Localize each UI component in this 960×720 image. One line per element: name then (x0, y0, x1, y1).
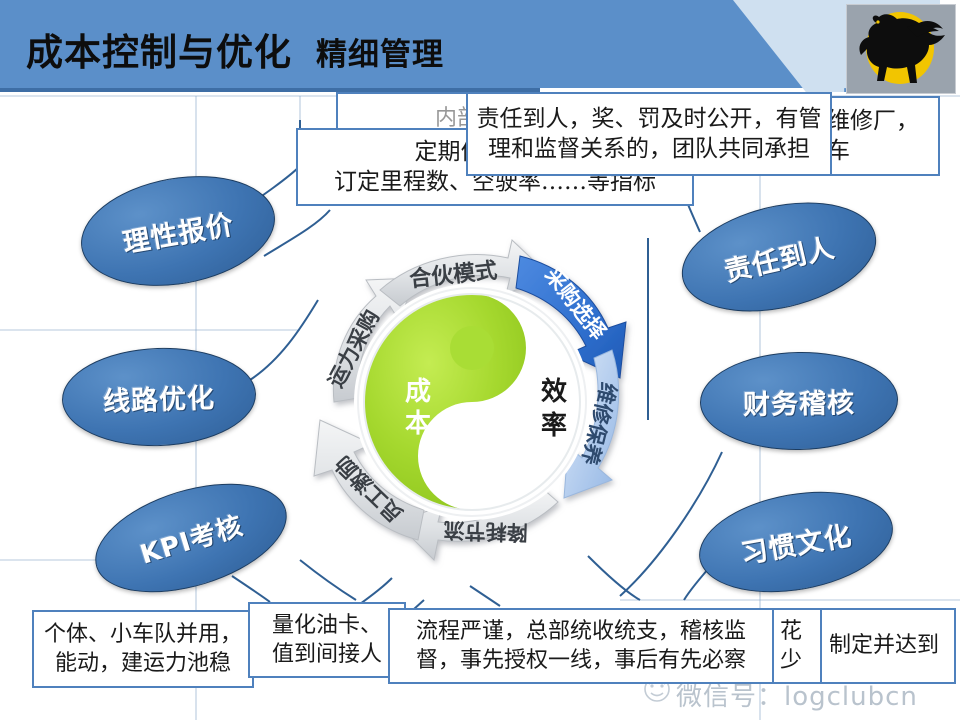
svg-text:本: 本 (405, 409, 431, 439)
slide-root: 成本控制与优化精细管理 (0, 0, 960, 720)
page-title: 成本控制与优化精细管理 (26, 22, 444, 76)
pegasus-icon (847, 5, 953, 91)
page-title-sub: 精细管理 (316, 37, 444, 73)
callout-bottom-fuel-card[interactable]: 量化油卡、 值到间接人 (248, 602, 406, 678)
oval-habit-culture[interactable]: 习惯文化 (691, 478, 901, 607)
yin-label-cost: 成 (405, 377, 431, 407)
callout-bottom-process[interactable]: 流程严谨，总部统收统支，稽核监 督，事先授权一线，事后有先必察 (388, 608, 774, 684)
oval-responsibility[interactable]: 责任到人 (671, 185, 887, 329)
callout-bottom-fleet[interactable]: 个体、小车队并用， 能动，建运力池稳 (32, 610, 254, 688)
oval-habit-culture-label: 习惯文化 (737, 513, 854, 571)
yang-label-efficiency: 效 (541, 376, 567, 407)
oval-rational-quote-label: 理性报价 (119, 202, 236, 260)
oval-route-optimization[interactable]: 线路优化 (60, 345, 257, 450)
oval-financial-audit-label: 财务稽核 (743, 381, 856, 422)
page-title-main: 成本控制与优化 (26, 31, 292, 74)
oval-rational-quote[interactable]: 理性报价 (72, 162, 283, 300)
callout-repair-shop-text: 维修厂， 车 (821, 104, 925, 169)
callout-bottom-target[interactable]: 制定并达到 (812, 608, 956, 684)
callout-responsibility[interactable]: 责任到人，奖、罚及时公开，有管 理和监督关系的，团队共同承担 (466, 92, 832, 176)
callout-bottom-fleet-text: 个体、小车队并用， 能动，建运力池稳 (38, 618, 248, 680)
callout-bottom-process-text: 流程严谨，总部统收统支，稽核监 督，事先授权一线，事后有先必察 (410, 615, 752, 677)
svg-text:率: 率 (541, 410, 567, 441)
callout-bottom-target-text: 制定并达到 (823, 629, 945, 662)
cost-efficiency-diagram: 成 本 效 率 合伙模式 采购选择 维修保养 降耗节流 员工激励 运力采购 (268, 222, 676, 622)
oval-financial-audit[interactable]: 财务稽核 (699, 350, 899, 451)
callout-responsibility-text: 责任到人，奖、罚及时公开，有管 理和监督关系的，团队共同承担 (471, 102, 828, 167)
oval-responsibility-label: 责任到人 (720, 225, 838, 288)
oval-kpi-assessment-label: KPI考核 (135, 505, 247, 571)
callout-bottom-fuel-card-text: 量化油卡、 值到间接人 (266, 609, 388, 671)
oval-route-optimization-label: 线路优化 (102, 376, 215, 419)
pegasus-logo (846, 4, 956, 94)
arrow-label-cost-reduction: 降耗节流 (443, 518, 528, 545)
callout-bottom-spend-text: 花 少 (774, 615, 808, 677)
